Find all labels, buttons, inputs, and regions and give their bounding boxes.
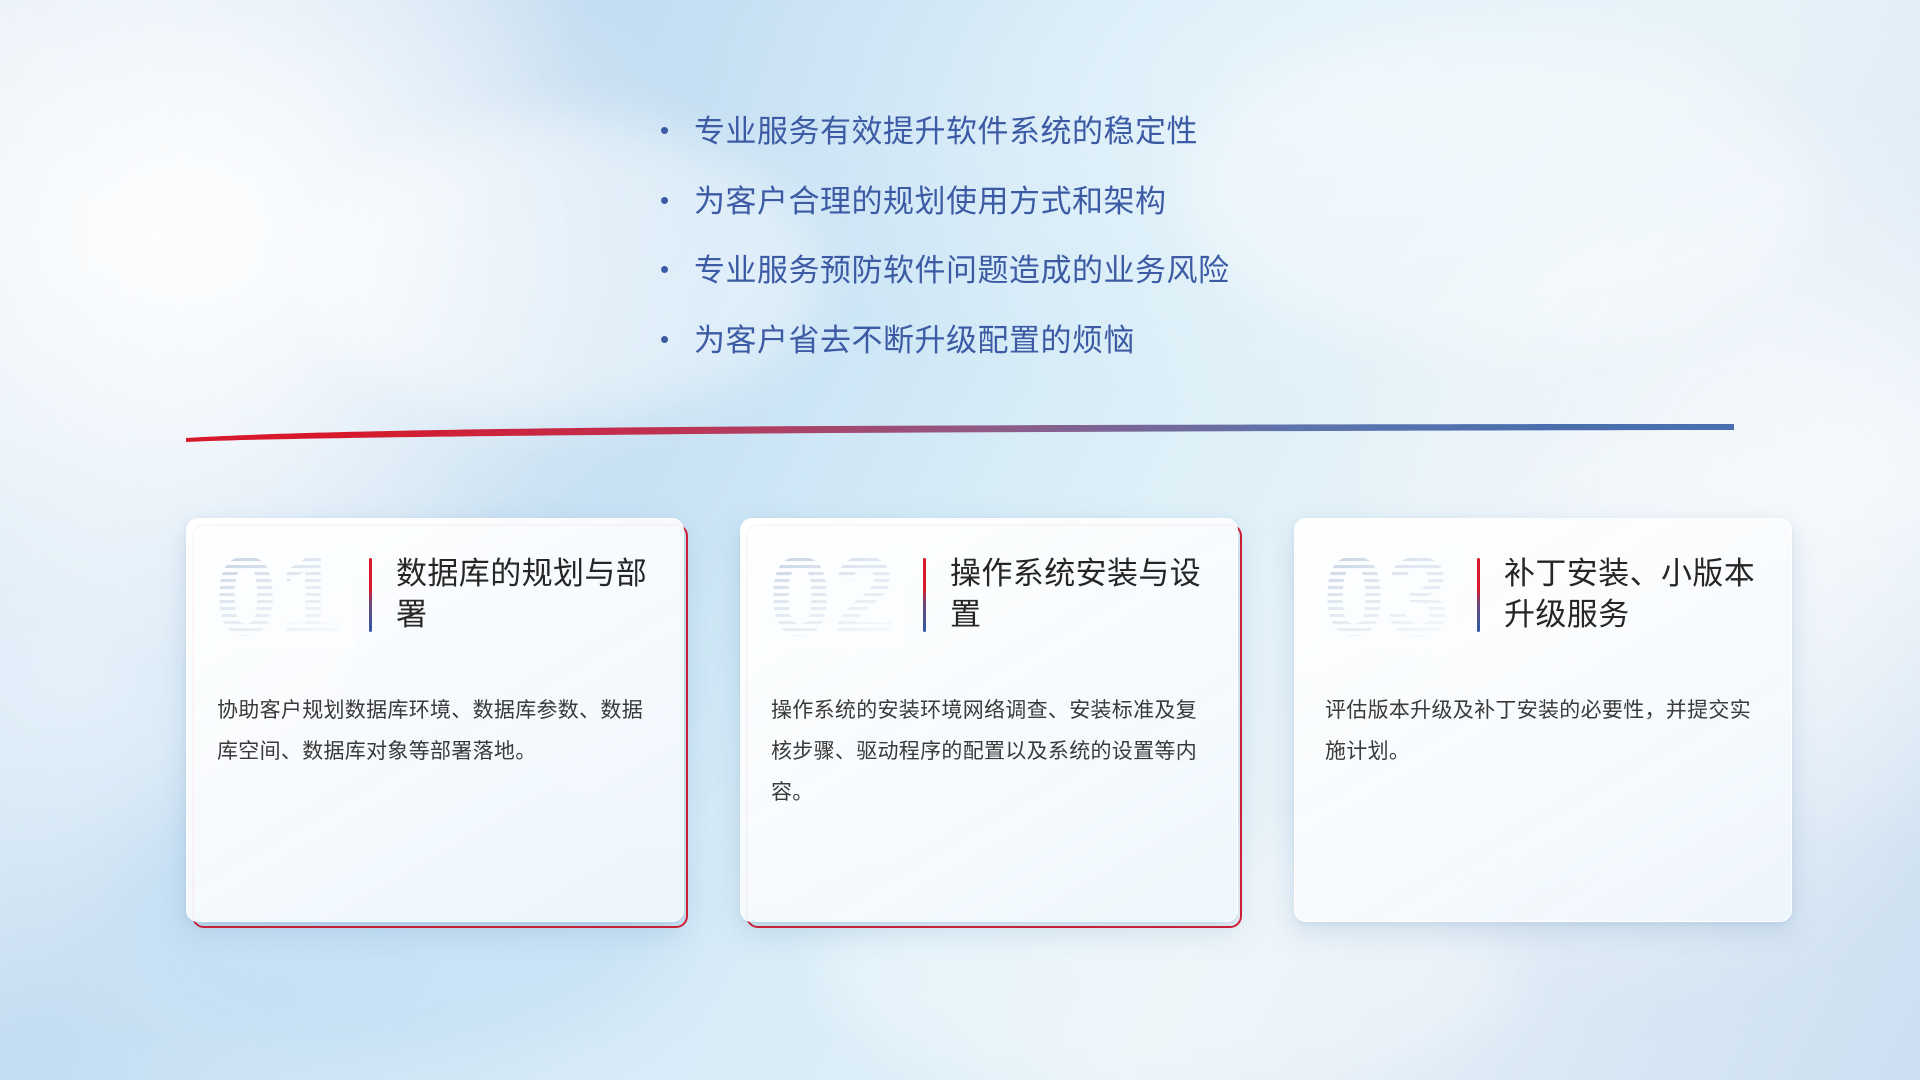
bullet-dot-icon: • (660, 251, 694, 289)
bullet-dot-icon: • (660, 321, 694, 359)
card-panel: 02 操作系统安装与设置 操作系统的安装环境网络调查、安装标准及复核步骤、驱动程… (740, 518, 1238, 922)
bullet-text: 为客户合理的规划使用方式和架构 (694, 182, 1420, 222)
list-item: • 为客户合理的规划使用方式和架构 (660, 182, 1420, 222)
card-header: 03 补丁安装、小版本升级服务 (1295, 519, 1791, 671)
benefits-bullet-list: • 专业服务有效提升软件系统的稳定性 • 为客户合理的规划使用方式和架构 • 专… (660, 112, 1420, 391)
card-number-graphic: 03 (1321, 537, 1463, 653)
bullet-text: 专业服务预防软件问题造成的业务风险 (694, 251, 1420, 291)
list-item: • 专业服务有效提升软件系统的稳定性 (660, 112, 1420, 152)
service-cards-row: 01 数据库的规划与部署 协助客户规划数据库环境、数据库参数、数据库空间、数据库… (186, 518, 1792, 922)
bullet-dot-icon: • (660, 182, 694, 220)
card-panel: 03 补丁安装、小版本升级服务 评估版本升级及补丁安装的必要性，并提交实施计划。 (1294, 518, 1792, 922)
bullet-dot-icon: • (660, 112, 694, 150)
list-item: • 为客户省去不断升级配置的烦恼 (660, 321, 1420, 361)
bullet-text: 为客户省去不断升级配置的烦恼 (694, 321, 1420, 361)
card-number-graphic: 01 (213, 537, 355, 653)
card-divider-bar (1477, 558, 1480, 632)
card-title: 补丁安装、小版本升级服务 (1504, 554, 1791, 636)
card-divider-bar (923, 558, 926, 632)
card-divider-bar (369, 558, 372, 632)
card-title: 操作系统安装与设置 (950, 554, 1237, 636)
service-card-02[interactable]: 02 操作系统安装与设置 操作系统的安装环境网络调查、安装标准及复核步骤、驱动程… (740, 518, 1238, 922)
card-description: 协助客户规划数据库环境、数据库参数、数据库空间、数据库对象等部署落地。 (187, 671, 683, 773)
service-card-01[interactable]: 01 数据库的规划与部署 协助客户规划数据库环境、数据库参数、数据库空间、数据库… (186, 518, 684, 922)
card-panel: 01 数据库的规划与部署 协助客户规划数据库环境、数据库参数、数据库空间、数据库… (186, 518, 684, 922)
card-description: 评估版本升级及补丁安装的必要性，并提交实施计划。 (1295, 671, 1791, 773)
card-description: 操作系统的安装环境网络调查、安装标准及复核步骤、驱动程序的配置以及系统的设置等内… (741, 671, 1237, 814)
section-divider (186, 424, 1734, 446)
card-header: 02 操作系统安装与设置 (741, 519, 1237, 671)
card-header: 01 数据库的规划与部署 (187, 519, 683, 671)
card-number-graphic: 02 (767, 537, 909, 653)
bullet-text: 专业服务有效提升软件系统的稳定性 (694, 112, 1420, 152)
slide-canvas: • 专业服务有效提升软件系统的稳定性 • 为客户合理的规划使用方式和架构 • 专… (0, 0, 1920, 1080)
service-card-03[interactable]: 03 补丁安装、小版本升级服务 评估版本升级及补丁安装的必要性，并提交实施计划。 (1294, 518, 1792, 922)
list-item: • 专业服务预防软件问题造成的业务风险 (660, 251, 1420, 291)
card-title: 数据库的规划与部署 (396, 554, 683, 636)
